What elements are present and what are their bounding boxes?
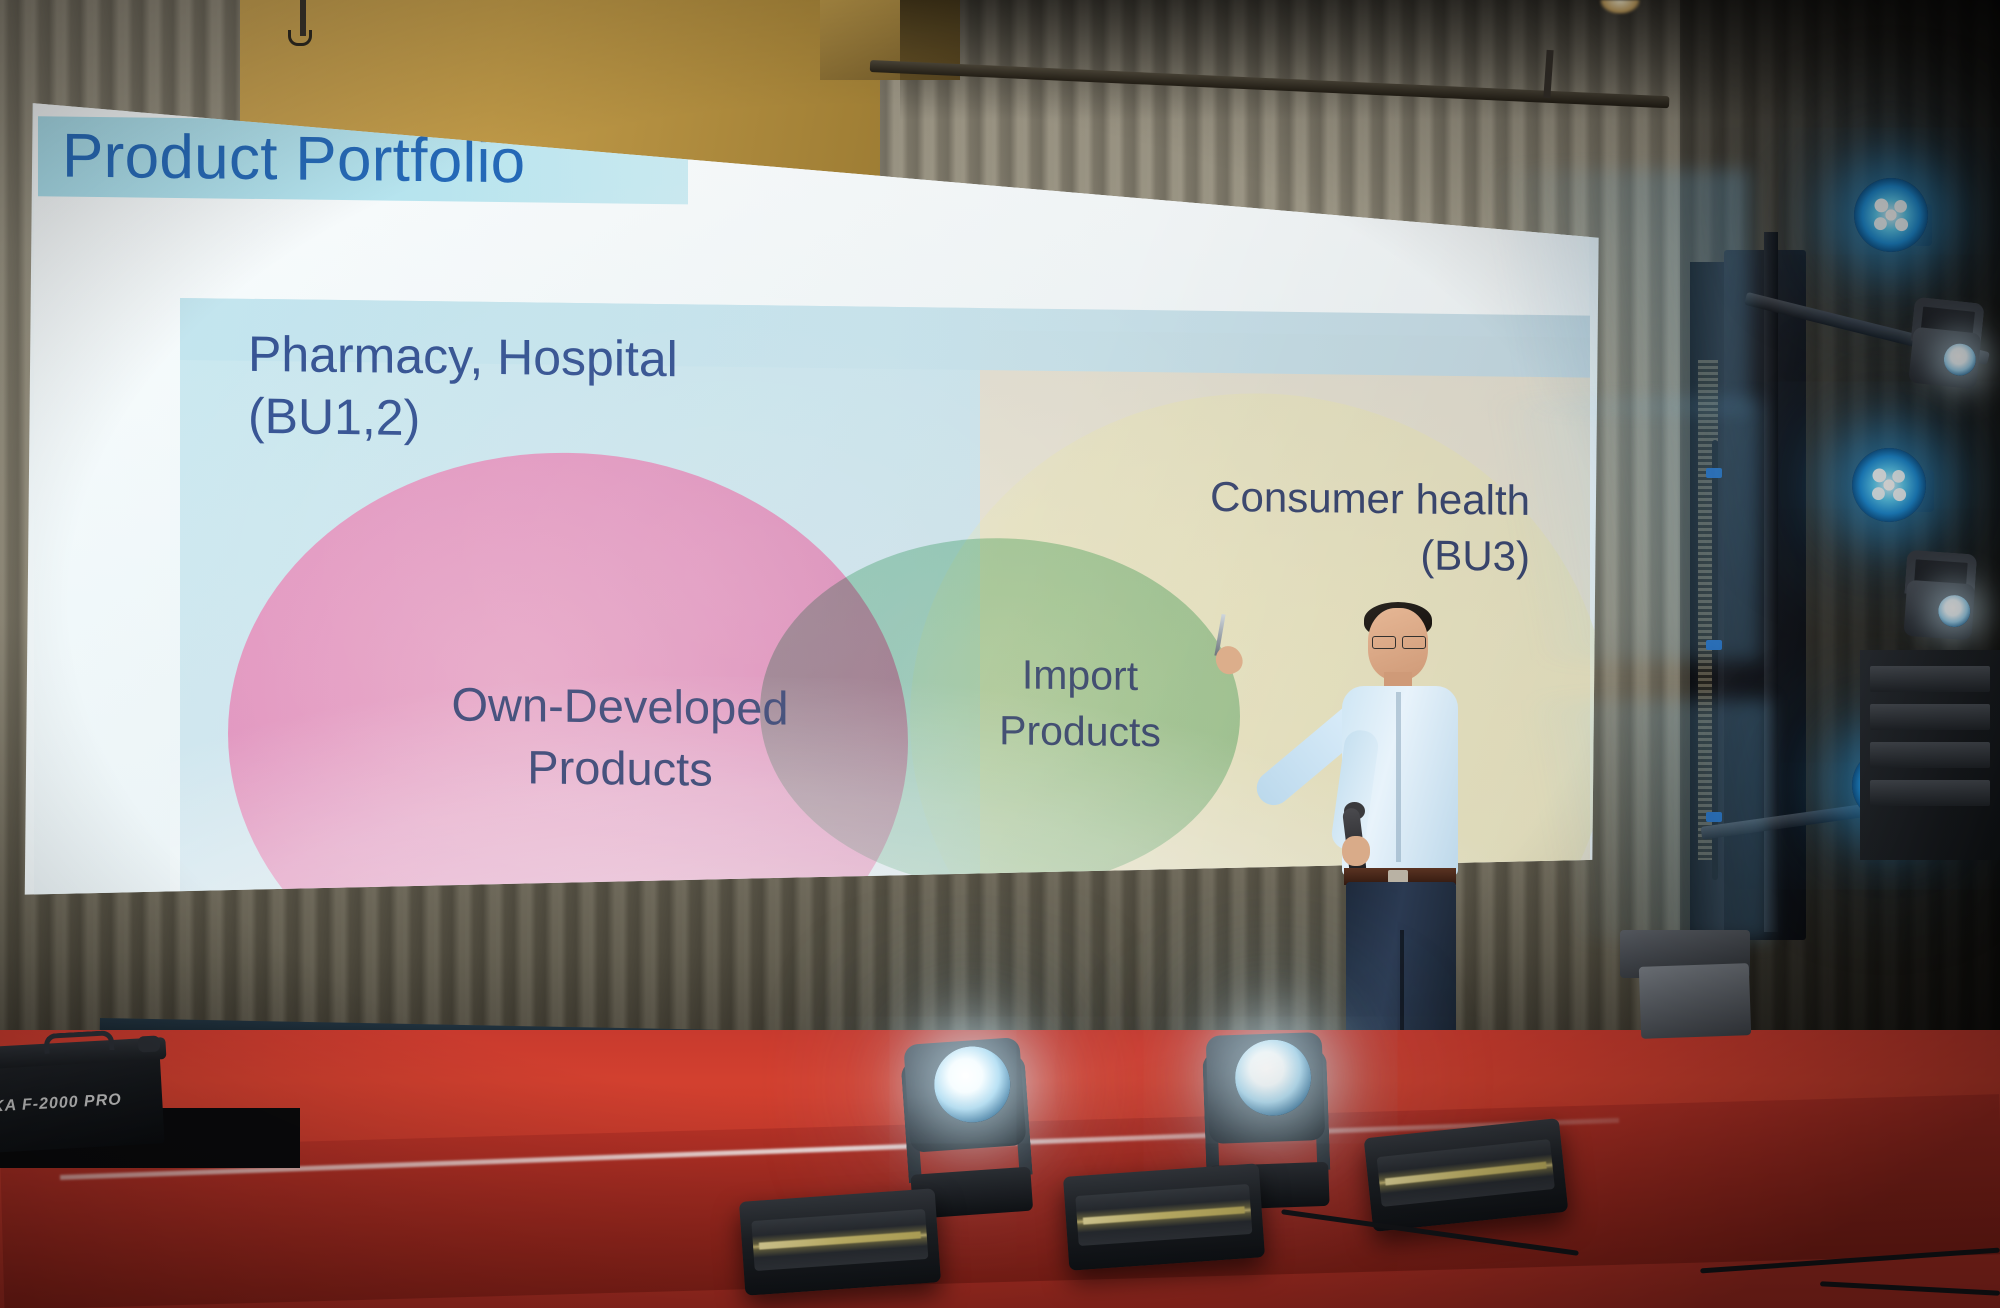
curtain-hook-icon — [288, 30, 312, 46]
cable-clip — [1706, 468, 1722, 478]
rack-unit — [1870, 742, 1990, 768]
label-consumer-line1: Consumer health — [1100, 468, 1530, 529]
label-own-developed-products: Own-Developed Products — [370, 672, 870, 802]
moving-head-upper-icon — [1901, 296, 1989, 400]
blinder-led-panel — [1377, 1139, 1555, 1207]
amplifier-rack — [1860, 650, 2000, 860]
moving-head-body — [1903, 580, 1975, 641]
label-consumer-health: Consumer health (BU3) — [1100, 468, 1530, 585]
par-led-top-icon — [1854, 178, 1928, 252]
label-pharmacy-line2: (BU1,2) — [248, 385, 868, 455]
presenter-mic-hand — [1342, 836, 1370, 866]
label-pharmacy-hospital: Pharmacy, Hospital (BU1,2) — [248, 323, 868, 455]
label-own-line1: Own-Developed — [370, 672, 870, 740]
par-led-mid-icon — [1852, 448, 1926, 522]
label-import-products: Import Products — [950, 646, 1210, 761]
presenter-shirt-placket — [1396, 692, 1401, 862]
blinder-led-panel — [751, 1209, 928, 1271]
stage-scene: Product Portfolio Pharmacy, Hospital (BU… — [0, 0, 2000, 1308]
moving-head-body — [1908, 327, 1981, 390]
moving-head-lens — [1937, 594, 1971, 628]
blinder-left-icon — [739, 1188, 941, 1295]
rack-unit — [1870, 666, 1990, 692]
blinder-center-icon — [1063, 1163, 1265, 1270]
fog-machine-handle — [43, 1030, 114, 1054]
label-import-line1: Import — [950, 646, 1210, 705]
moving-head-lower-icon — [1897, 549, 1982, 650]
slide-title: Product Portfolio — [62, 115, 882, 209]
label-own-line2: Products — [370, 734, 870, 802]
stage-side-case — [1639, 963, 1751, 1039]
rack-unit — [1870, 780, 1990, 806]
moving-head-lens — [1942, 342, 1977, 377]
blinder-led-panel — [1075, 1184, 1252, 1246]
ceiling-downlight-icon — [1600, 0, 1640, 14]
label-consumer-line2: (BU3) — [1100, 524, 1530, 585]
fog-machine-knob[interactable] — [138, 1035, 161, 1052]
cable-clip — [1706, 640, 1722, 650]
glasses-icon — [1372, 636, 1426, 647]
rack-unit — [1870, 704, 1990, 730]
cable-clip — [1706, 812, 1722, 822]
label-import-line2: Products — [950, 702, 1210, 761]
label-pharmacy-line1: Pharmacy, Hospital — [248, 323, 868, 393]
moving-head-floor-left-icon — [883, 1000, 1047, 1220]
